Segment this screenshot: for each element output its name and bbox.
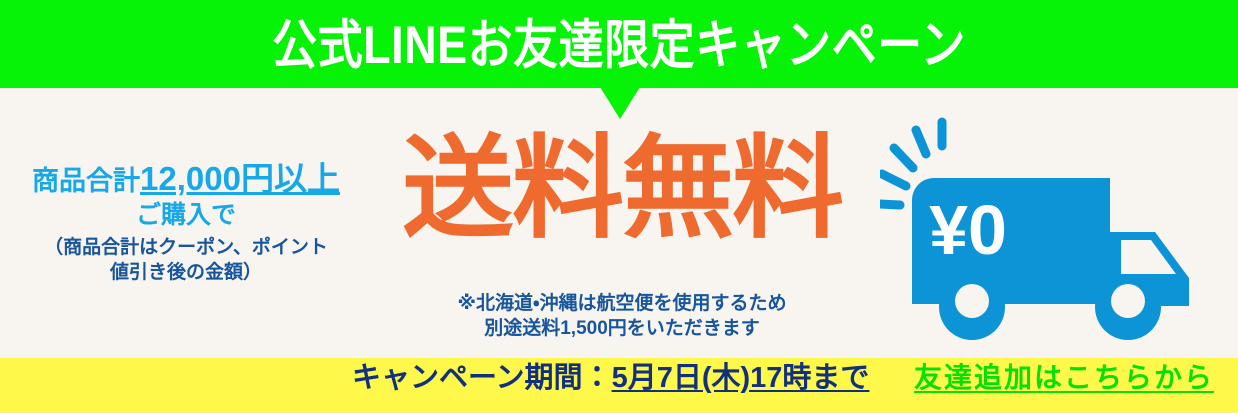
shipping-exception-note: ※北海道・沖縄は航空便を使用するため 別途送料1,500円をいただきます <box>372 291 872 341</box>
condition-amount: 12,000円以上 <box>140 160 340 197</box>
condition-purchase-line: ご購入で <box>0 200 372 230</box>
banner-header: 公式LINEお友達限定キャンペーン <box>0 0 1238 88</box>
campaign-period-label: キャンペーン期間： <box>352 362 612 394</box>
campaign-period: キャンペーン期間：5月7日(木)17時まで <box>352 364 869 393</box>
campaign-banner: 公式LINEお友達限定キャンペーン 商品合計12,000円以上 ご購入で （商品… <box>0 0 1238 413</box>
delivery-truck-illustration: ¥0 <box>880 104 1200 349</box>
truck-price-badge: ¥0 <box>929 191 1007 269</box>
condition-note: （商品合計はクーポン、ポイント 値引き後の金額） <box>0 236 372 285</box>
shipping-note-line1: ※北海道・沖縄は航空便を使用するため <box>372 291 872 316</box>
condition-prefix: 商品合計 <box>32 166 140 196</box>
main-headline: 送料無料 <box>372 133 872 245</box>
condition-note-line1: （商品合計はクーポン、ポイント <box>0 236 372 260</box>
campaign-deadline: 5月7日(木)17時まで <box>612 362 870 394</box>
shipping-note-line2: 別途送料1,500円をいただきます <box>372 316 872 341</box>
add-friend-link[interactable]: 友達追加はこちらから <box>914 364 1214 392</box>
purchase-condition-block: 商品合計12,000円以上 ご購入で （商品合計はクーポン、ポイント 値引き後の… <box>0 160 372 285</box>
condition-amount-line: 商品合計12,000円以上 <box>0 160 372 198</box>
header-notch-triangle <box>600 87 640 119</box>
header-title: 公式LINEお友達限定キャンペーン <box>272 17 966 70</box>
condition-note-line2: 値引き後の金額） <box>0 261 372 285</box>
